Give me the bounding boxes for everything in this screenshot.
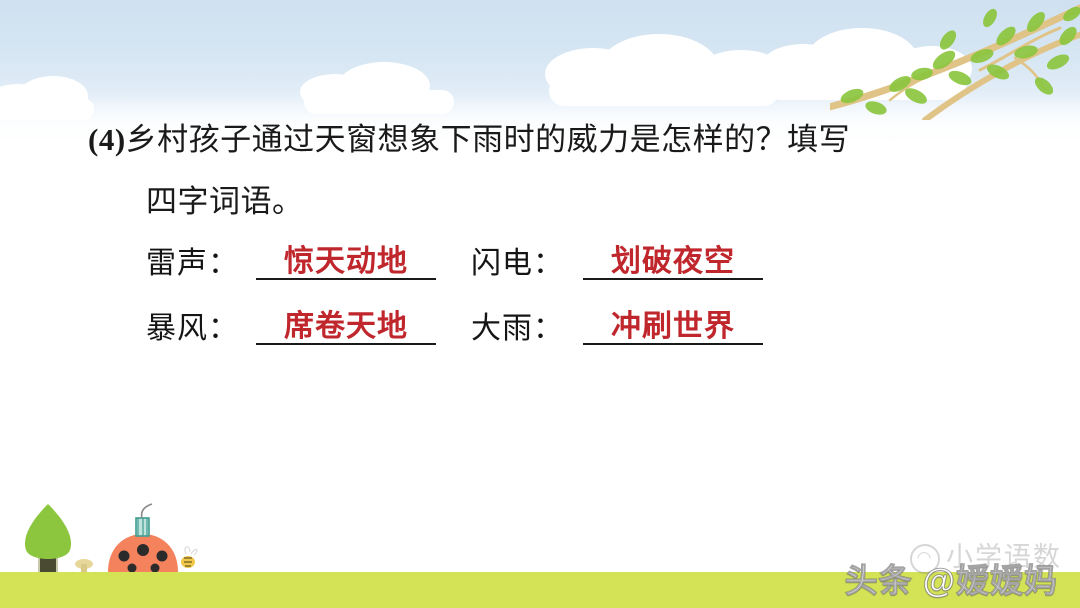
answer-underline-storm [256,343,436,345]
question-line-1: (4)乡村孩子通过天窗想象下雨时的威力是怎样的？填写 [88,114,850,159]
answer-label-storm: 暴风： [146,303,239,347]
answer-blank-storm[interactable]: 席卷天地 [256,301,436,345]
answer-label-rain: 大雨： [471,303,564,347]
tree-icon [25,504,71,572]
bee-icon [181,547,197,568]
question-text-line-1: 乡村孩子通过天窗想象下雨时的威力是怎样的？填写 [126,122,851,157]
answer-blank-thunder[interactable]: 惊天动地 [256,236,436,280]
answer-label-lightning: 闪电： [471,238,564,282]
answer-value-storm: 席卷天地 [256,301,436,345]
answer-value-rain: 冲刷世界 [583,301,763,345]
answer-label-thunder: 雷声： [146,238,239,282]
answer-underline-rain [583,343,763,345]
watermark-author: 头条 @嫒嫒妈 [845,554,1058,602]
question-number: (4) [88,122,126,157]
answer-underline-lightning [583,278,763,280]
answer-blank-lightning[interactable]: 划破夜空 [583,236,763,280]
question-line-2: 四字词语。 [146,176,304,221]
answer-underline-thunder [256,278,436,280]
answer-value-lightning: 划破夜空 [583,236,763,280]
slide-canvas: (4)乡村孩子通过天窗想象下雨时的威力是怎样的？填写 四字词语。 雷声： 惊天动… [0,0,1080,608]
answer-blank-rain[interactable]: 冲刷世界 [583,301,763,345]
answer-value-thunder: 惊天动地 [256,236,436,280]
